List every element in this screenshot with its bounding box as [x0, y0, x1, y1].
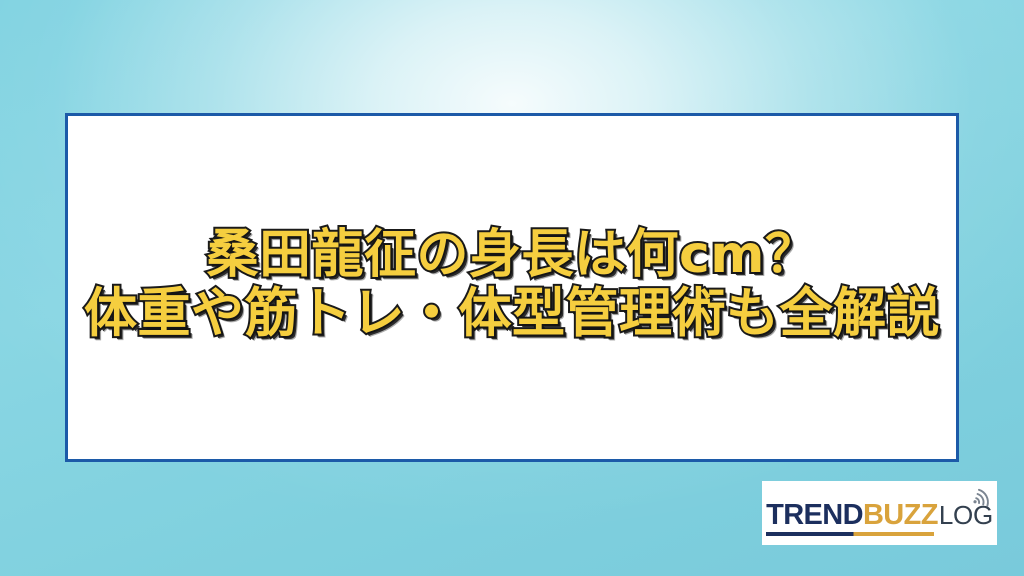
- logo-inner: TREND BUZZ LOG: [766, 497, 993, 530]
- logo-text-buzz: BUZZ: [863, 501, 938, 530]
- logo-underline-bar: [766, 532, 934, 536]
- title-block: 桑田龍征の身長は何cm？ 体重や筋トレ・体型管理術も全解説: [68, 226, 956, 350]
- logo-wordmark: TREND BUZZ LOG: [766, 501, 993, 530]
- title-card: 桑田龍征の身長は何cm？ 体重や筋トレ・体型管理術も全解説: [65, 113, 959, 462]
- page-title-line-2: 体重や筋トレ・体型管理術も全解説: [68, 284, 956, 343]
- eyecatch-canvas: 桑田龍征の身長は何cm？ 体重や筋トレ・体型管理術も全解説 TREND BUZZ…: [0, 0, 1024, 576]
- site-logo-badge[interactable]: TREND BUZZ LOG: [762, 481, 997, 545]
- logo-text-trend: TREND: [766, 501, 863, 530]
- page-title-line-1: 桑田龍征の身長は何cm？: [68, 226, 956, 284]
- wifi-signal-icon: [969, 485, 995, 507]
